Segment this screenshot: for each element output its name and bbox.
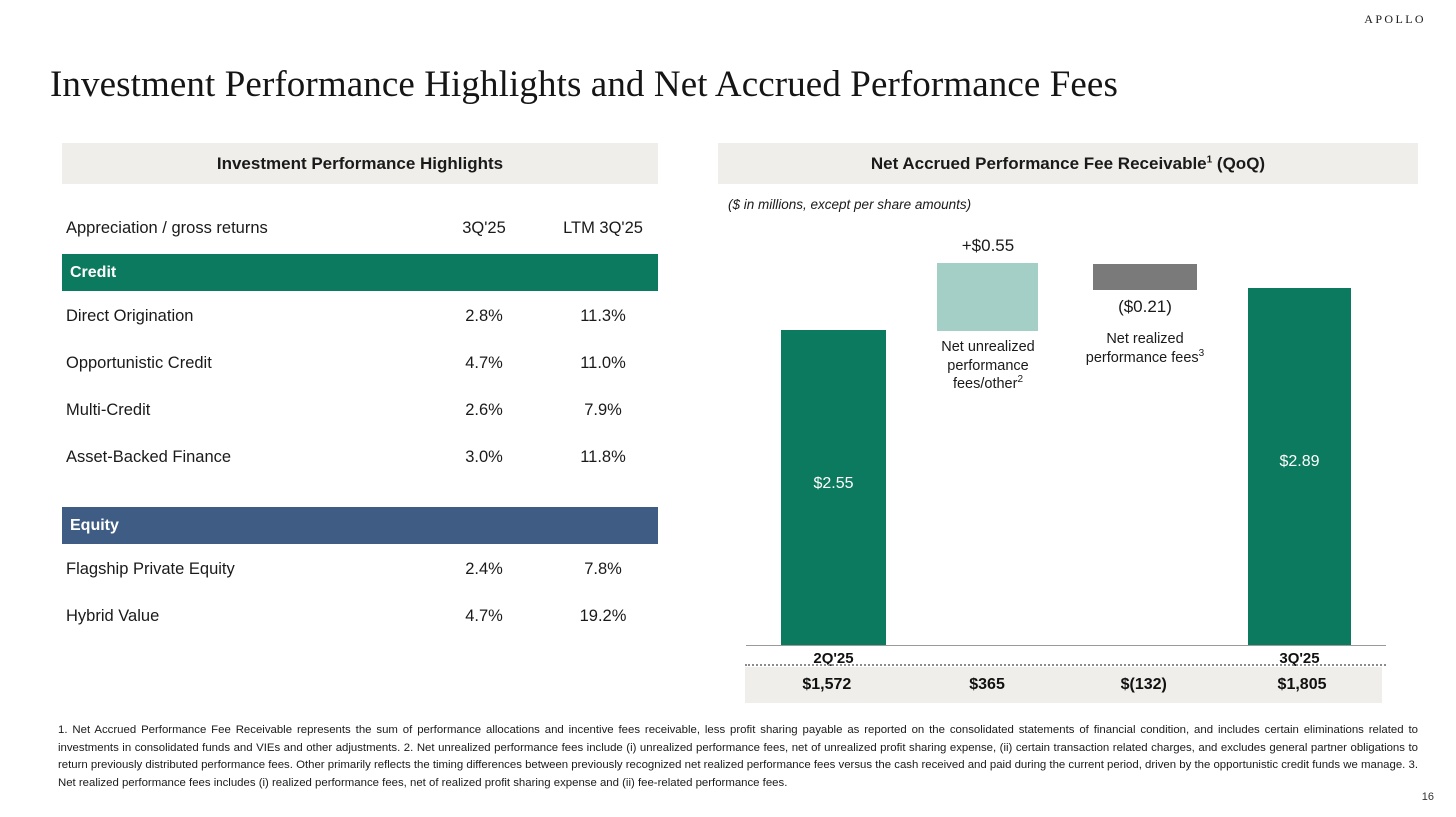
chart-bar-unrealized-value: +$0.55 (923, 236, 1053, 256)
chart-axis-line (746, 645, 1386, 646)
footnote-marker-3: 3 (1199, 348, 1205, 359)
chart-bar-unrealized-caption: Net unrealized performance fees/other2 (918, 338, 1058, 394)
row-value-quarter: 4.7% (424, 607, 544, 626)
chart-divider-dotted (745, 664, 1386, 666)
footnotes: 1. Net Accrued Performance Fee Receivabl… (58, 722, 1418, 793)
waterfall-chart: $2.55 +$0.55 Net unrealized performance … (718, 210, 1418, 710)
page-title: Investment Performance Highlights and Ne… (50, 63, 1118, 106)
row-value-quarter: 2.8% (424, 307, 544, 326)
row-value-ltm: 7.9% (544, 401, 662, 420)
row-label: Hybrid Value (62, 607, 424, 626)
table-row: Opportunistic Credit 4.7% 11.0% (62, 340, 658, 387)
table-row: Direct Origination 2.8% 11.3% (62, 293, 658, 340)
slide-root: APOLLO Investment Performance Highlights… (0, 0, 1456, 817)
table-row: Asset-Backed Finance 3.0% 11.8% (62, 434, 658, 481)
left-panel-header-label: Investment Performance Highlights (217, 154, 503, 174)
section-header-equity: Equity (62, 507, 658, 544)
section-label-credit: Credit (70, 264, 116, 282)
row-value-ltm: 11.8% (544, 448, 662, 467)
table-row: Flagship Private Equity 2.4% 7.8% (62, 546, 658, 593)
right-panel-header-main: Net Accrued Performance Fee Receivable (871, 154, 1207, 173)
right-panel-header-label: Net Accrued Performance Fee Receivable1 … (871, 154, 1265, 174)
value-millions-realized: $(132) (1065, 676, 1222, 694)
chart-bar-realized-value: ($0.21) (1080, 297, 1210, 317)
row-label: Opportunistic Credit (62, 354, 424, 373)
chart-bar-realized (1093, 264, 1197, 290)
row-label: Multi-Credit (62, 401, 424, 420)
caption-text: Net realized performance fees (1086, 331, 1199, 366)
section-header-credit: Credit (62, 254, 658, 291)
col-header-ltm: LTM 3Q'25 (544, 219, 662, 238)
apollo-logo: APOLLO (1364, 12, 1426, 27)
chart-bar-end-value: $2.89 (1248, 453, 1351, 471)
table-header-row: Appreciation / gross returns 3Q'25 LTM 3… (62, 205, 658, 252)
chart-value-band: $1,572 $365 $(132) $1,805 (745, 667, 1382, 703)
investment-performance-table: Appreciation / gross returns 3Q'25 LTM 3… (62, 205, 658, 640)
right-panel-header-tail: (QoQ) (1212, 154, 1265, 173)
value-millions-unrealized: $365 (909, 676, 1066, 694)
left-panel-header: Investment Performance Highlights (62, 143, 658, 184)
row-value-quarter: 2.4% (424, 560, 544, 579)
row-value-ltm: 11.3% (544, 307, 662, 326)
table-row: Hybrid Value 4.7% 19.2% (62, 593, 658, 640)
footnote-marker-2: 2 (1017, 374, 1023, 385)
row-value-ltm: 11.0% (544, 354, 662, 373)
chart-bar-realized-caption: Net realized performance fees3 (1080, 330, 1210, 367)
row-value-quarter: 2.6% (424, 401, 544, 420)
value-millions-end: $1,805 (1222, 676, 1382, 694)
row-value-quarter: 4.7% (424, 354, 544, 373)
chart-bar-unrealized (937, 263, 1038, 331)
col-header-metric: Appreciation / gross returns (62, 219, 424, 238)
table-row: Multi-Credit 2.6% 7.9% (62, 387, 658, 434)
section-label-equity: Equity (70, 517, 119, 535)
page-number: 16 (1422, 791, 1434, 803)
row-value-quarter: 3.0% (424, 448, 544, 467)
right-panel-header: Net Accrued Performance Fee Receivable1 … (718, 143, 1418, 184)
row-label: Flagship Private Equity (62, 560, 424, 579)
row-value-ltm: 19.2% (544, 607, 662, 626)
col-header-quarter: 3Q'25 (424, 219, 544, 238)
value-millions-start: $1,572 (745, 676, 909, 694)
chart-bar-start-value: $2.55 (781, 475, 886, 493)
row-label: Asset-Backed Finance (62, 448, 424, 467)
section-spacer (62, 481, 658, 505)
row-value-ltm: 7.8% (544, 560, 662, 579)
row-label: Direct Origination (62, 307, 424, 326)
